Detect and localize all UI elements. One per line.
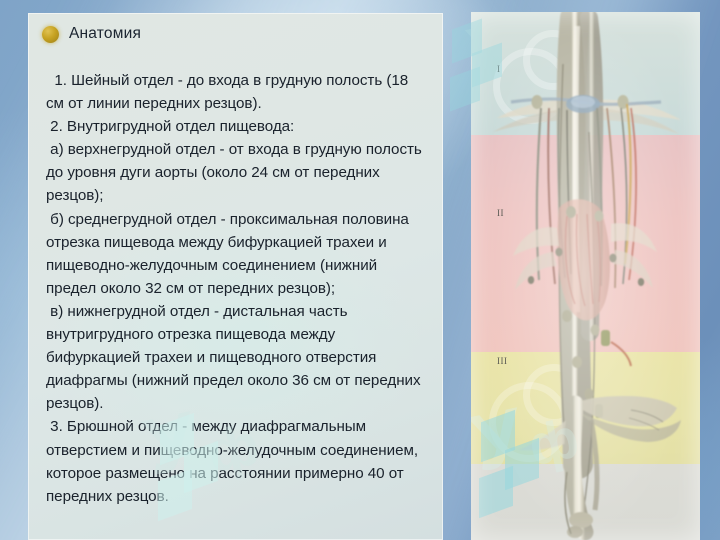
slide-canvas: У ф У ф Анатомия 1. Шейный отдел - до вх… <box>0 0 720 540</box>
gold-bullet-icon <box>42 26 59 43</box>
text-content-panel: Анатомия 1. Шейный отдел - до входа в гр… <box>28 13 443 540</box>
anatomy-illustration <box>471 12 700 540</box>
section-marker-i: I <box>497 64 501 74</box>
section-marker-ii: II <box>497 208 504 218</box>
panel-title-row: Анатомия <box>42 25 141 43</box>
body-text: 1. Шейный отдел - до входа в грудную пол… <box>46 69 429 508</box>
section-marker-iii: III <box>497 356 508 366</box>
page-title: Анатомия <box>69 25 141 43</box>
anatomy-image-panel: I II III У ф <box>471 12 700 540</box>
